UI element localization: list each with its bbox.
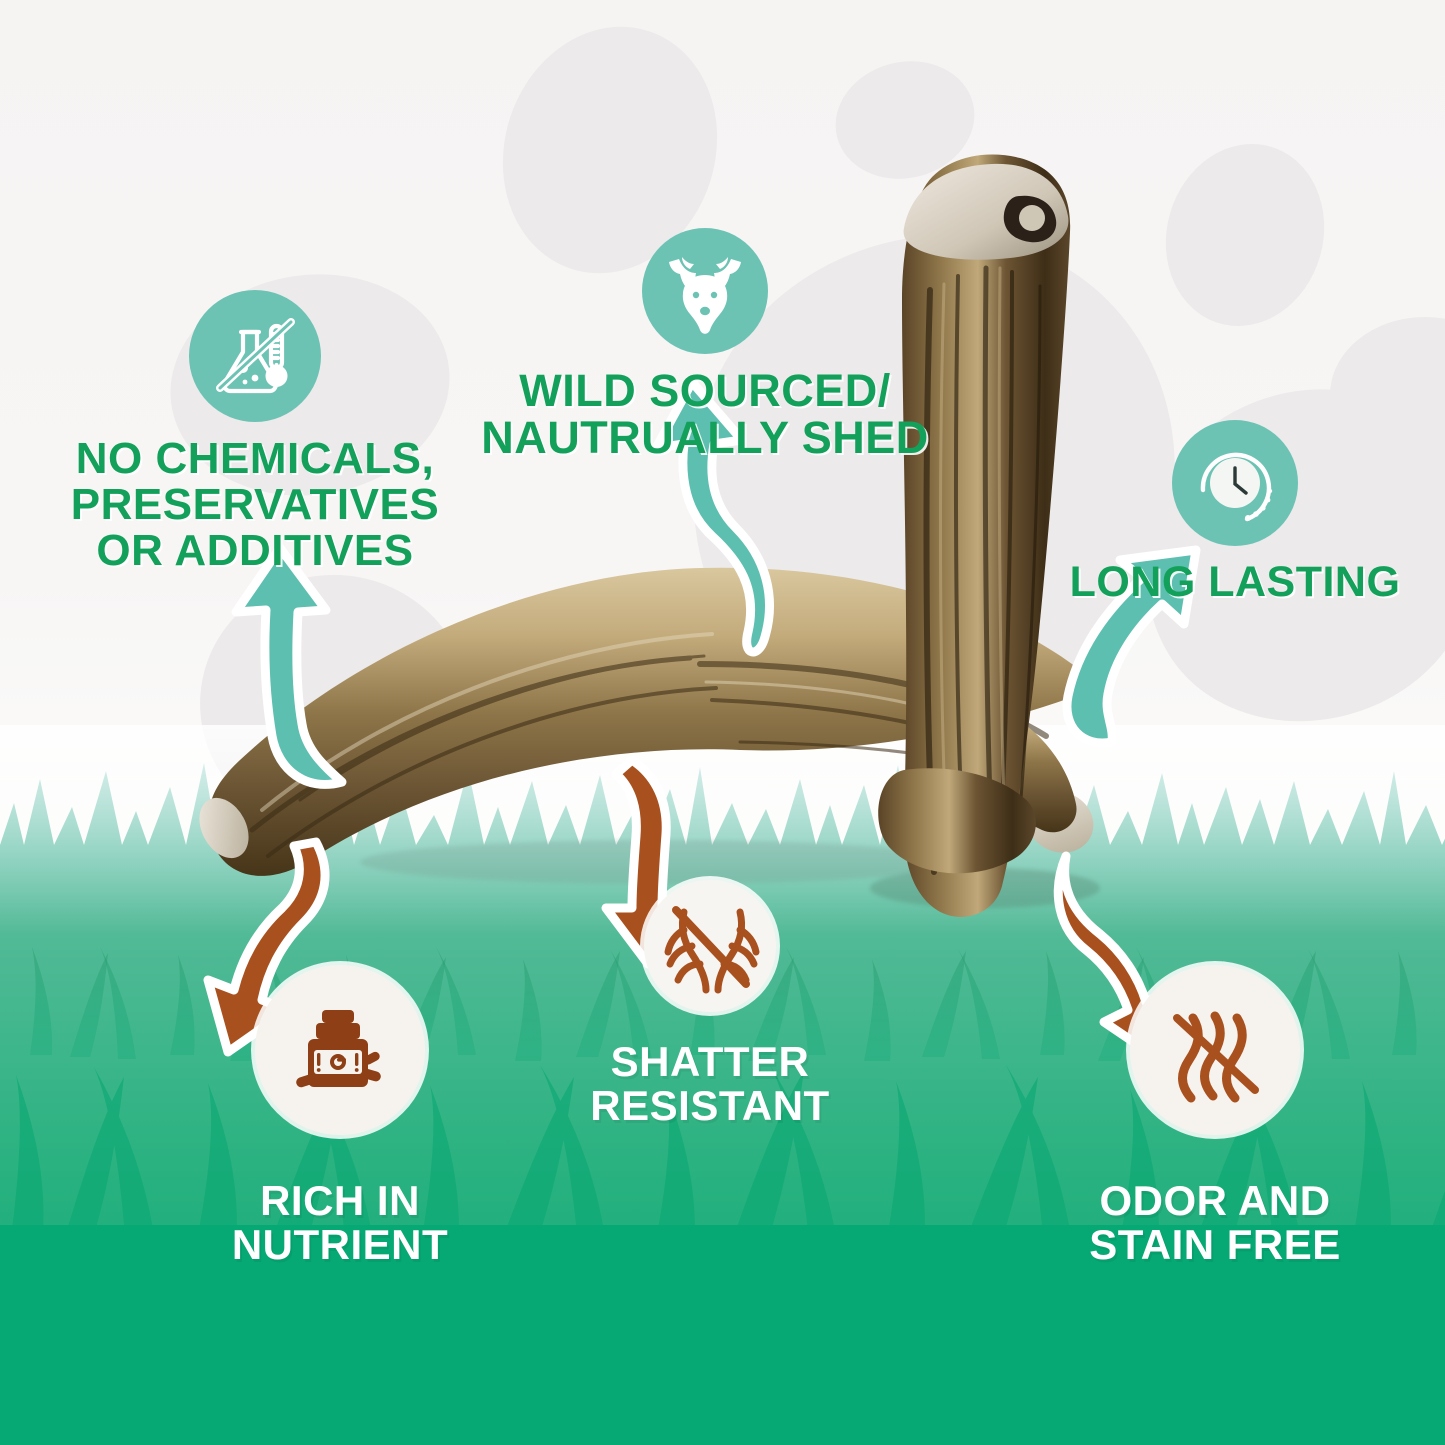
infographic-canvas: NO CHEMICALS, PRESERVATIVES OR ADDITIVES… [0,0,1445,1445]
crossed-antlers-no-icon [644,880,776,1012]
odor-waves-no-icon [1130,965,1300,1135]
feature-no-chemicals[interactable]: NO CHEMICALS, PRESERVATIVES OR ADDITIVES [40,290,470,573]
deer-head-icon [642,228,768,354]
feature-label-no-chemicals: NO CHEMICALS, PRESERVATIVES OR ADDITIVES [40,436,470,573]
feature-rich-in-nutrient[interactable]: RICH IN NUTRIENT [145,965,535,1266]
feature-label-rich-in-nutrient: RICH IN NUTRIENT [145,1179,535,1266]
feature-wild-sourced[interactable]: WILD SOURCED/ NAUTRUALLY SHED [470,228,940,462]
feature-label-long-lasting: LONG LASTING [1035,560,1435,605]
feature-shatter-resistant[interactable]: SHATTER RESISTANT [560,880,860,1127]
feature-label-odor-and-stain-free: ODOR AND STAIN FREE [1020,1179,1410,1266]
feature-label-shatter-resistant: SHATTER RESISTANT [560,1040,860,1127]
no-chemicals-icon [189,290,321,422]
feature-long-lasting[interactable]: LONG LASTING [1035,420,1435,605]
feature-label-wild-sourced: WILD SOURCED/ NAUTRUALLY SHED [470,368,940,462]
supplement-bottle-icon [255,965,425,1135]
feature-odor-and-stain-free[interactable]: ODOR AND STAIN FREE [1020,965,1410,1266]
clock-icon [1172,420,1298,546]
